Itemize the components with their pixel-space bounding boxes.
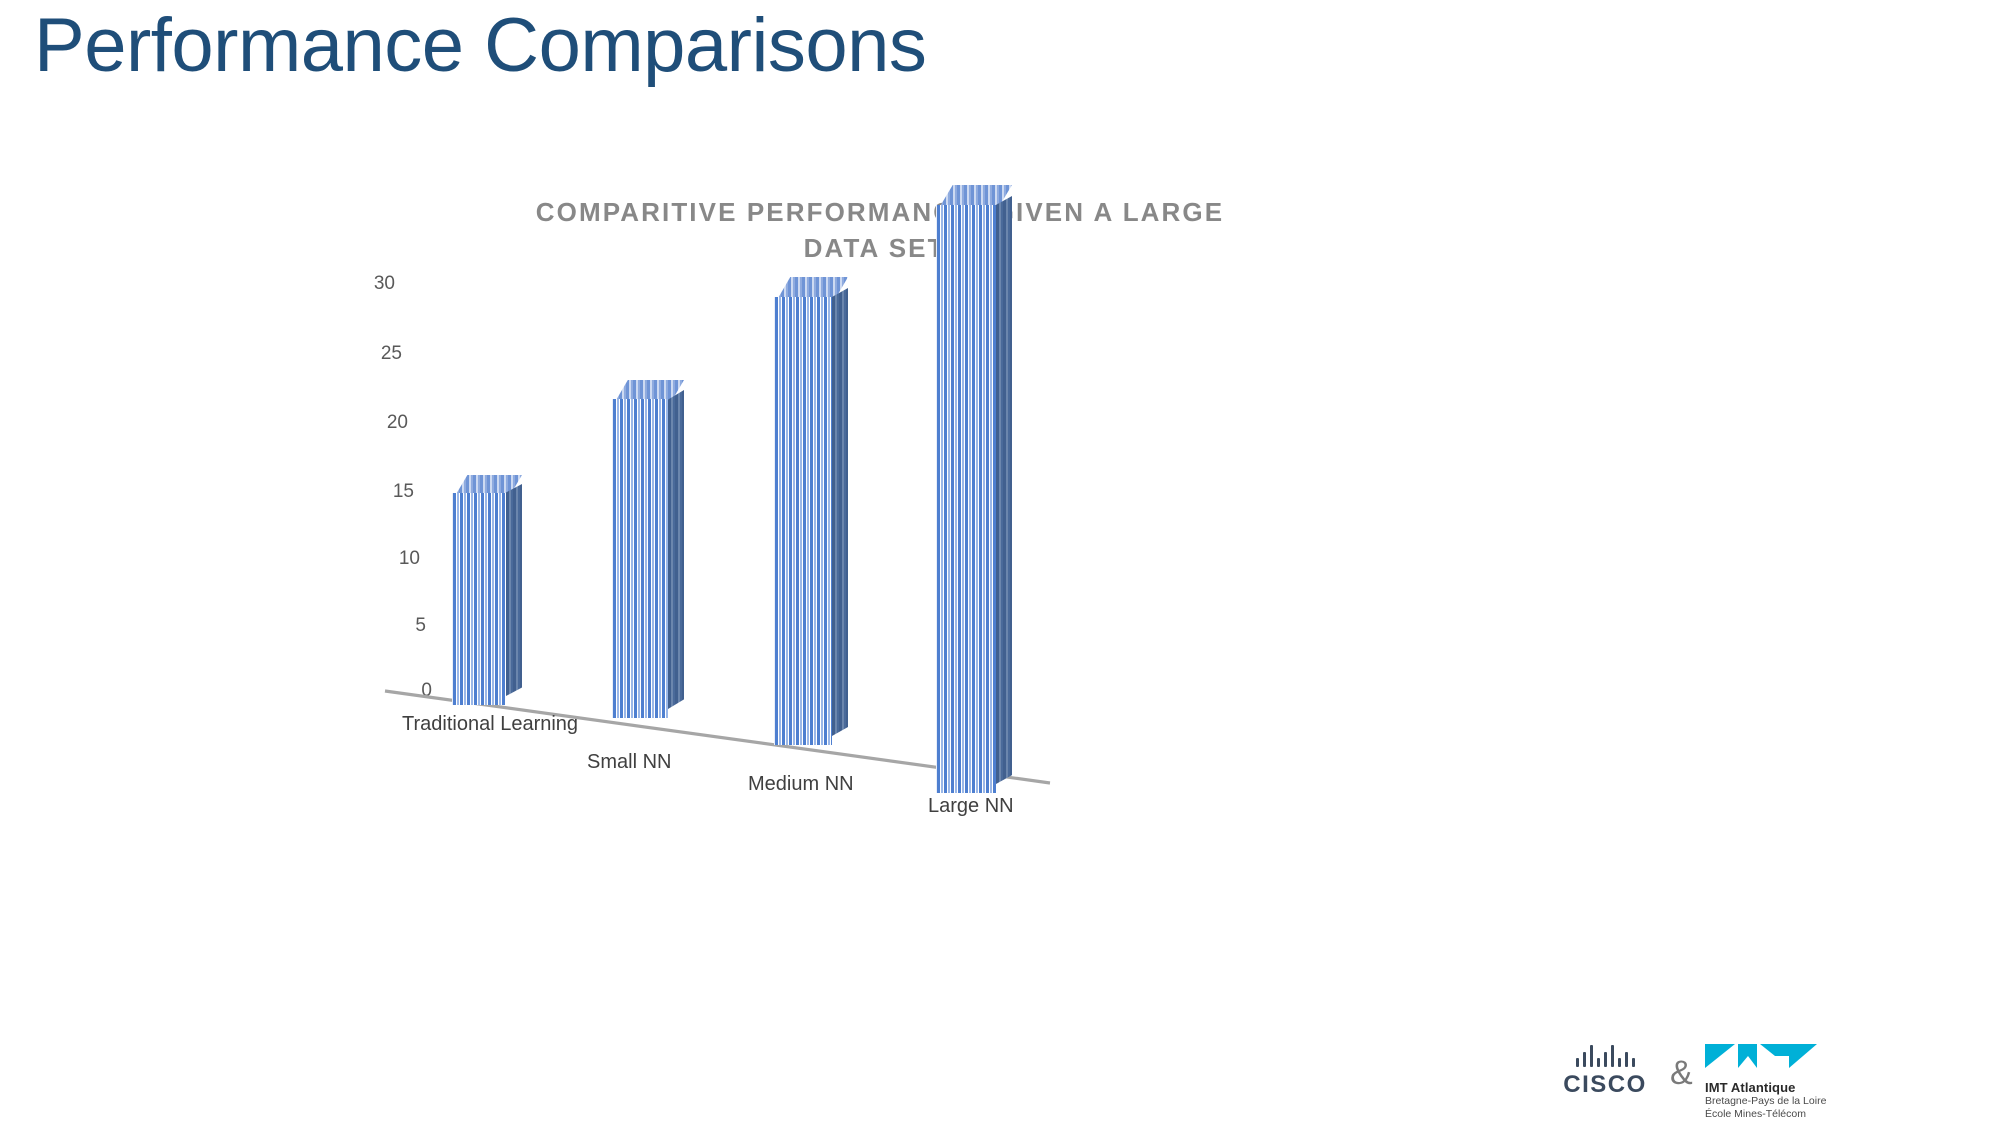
bar-side-face [506,484,522,696]
bar-front-face [936,205,996,793]
bar-side-face [668,390,684,709]
cisco-wordmark: CISCO [1550,1071,1660,1099]
ampersand-separator: & [1670,1054,1693,1093]
bar-traditional-learning [452,475,548,705]
bar-front-face [774,297,832,745]
category-label-large-nn: Large NN [928,795,1014,818]
bar-front-face [452,493,506,705]
imt-subtitle-region: Bretagne-Pays de la Loire [1705,1095,1880,1108]
imt-mark-icon [1705,1040,1817,1072]
chart-container: COMPARITIVE PERFORMANCE (GIVEN A LARGE D… [380,195,1380,1025]
bar-medium-nn [774,277,874,747]
bar-side-face [996,196,1012,784]
bar-side-face [832,288,848,736]
cisco-bars-icon [1550,1045,1660,1067]
bar-small-nn [612,380,708,720]
category-label-medium-nn: Medium NN [748,773,854,796]
category-label-traditional-learning: Traditional Learning [402,713,578,736]
cisco-logo: CISCO [1550,1045,1660,1099]
bar-large-nn [936,185,1036,795]
category-label-small-nn: Small NN [587,751,671,774]
imt-name: IMT Atlantique [1705,1080,1880,1095]
chart-plot-area: 30 25 20 15 10 5 0 [380,195,1380,1025]
imt-atlantique-logo: IMT Atlantique Bretagne-Pays de la Loire… [1705,1040,1880,1122]
page-title: Performance Comparisons [34,8,926,84]
logo-strip: CISCO & IMT Atlantique Bretagne-Pays de … [1550,1040,1880,1125]
bar-front-face [612,399,668,718]
imt-subtitle-school: École Mines-Télécom [1705,1108,1880,1121]
